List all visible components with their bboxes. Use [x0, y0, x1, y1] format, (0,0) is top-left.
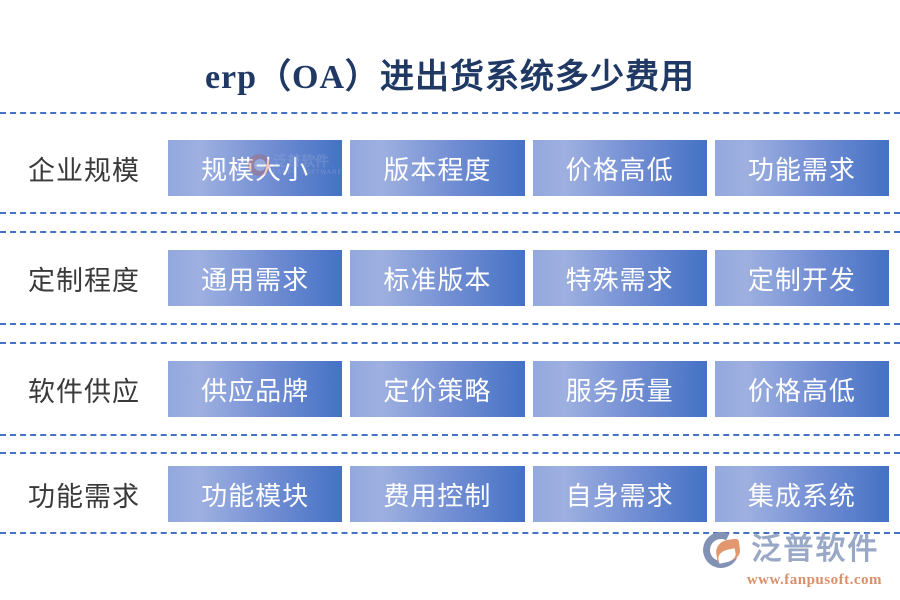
cell-2-1[interactable]: 通用需求	[168, 250, 342, 306]
page-title: erp（OA）进出货系统多少费用	[205, 49, 695, 98]
row-label-3: 软件供应	[0, 370, 168, 409]
cell-3-3[interactable]: 服务质量	[533, 361, 707, 417]
divider-1-lower	[0, 231, 900, 233]
row-label-1: 企业规模	[0, 149, 168, 188]
brand-top-row: 泛普软件	[703, 530, 879, 570]
divider-1-upper	[0, 212, 900, 214]
cell-2-2[interactable]: 标准版本	[350, 250, 524, 306]
divider-3-upper	[0, 434, 900, 436]
cell-4-4[interactable]: 集成系统	[715, 466, 889, 522]
cell-1-1[interactable]: 规模大小	[168, 140, 342, 196]
divider-2-upper	[0, 323, 900, 325]
cell-4-1[interactable]: 功能模块	[168, 466, 342, 522]
row-enterprise-scale: 企业规模 规模大小 版本程度 价格高低 功能需求	[0, 140, 900, 196]
cell-3-2[interactable]: 定价策略	[350, 361, 524, 417]
cell-2-3[interactable]: 特殊需求	[533, 250, 707, 306]
row-4-cells: 功能模块 费用控制 自身需求 集成系统	[168, 466, 900, 522]
cell-1-3[interactable]: 价格高低	[533, 140, 707, 196]
brand-logo: 泛普软件 www.fanpusoft.com	[701, 530, 882, 588]
row-customization-level: 定制程度 通用需求 标准版本 特殊需求 定制开发	[0, 250, 900, 306]
row-label-2: 定制程度	[0, 259, 168, 298]
divider-2-lower	[0, 342, 900, 344]
row-3-cells: 供应品牌 定价策略 服务质量 价格高低	[168, 361, 900, 417]
divider-top	[0, 112, 900, 114]
row-function-requirements: 功能需求 功能模块 费用控制 自身需求 集成系统	[0, 466, 900, 522]
brand-url: www.fanpusoft.com	[747, 573, 882, 588]
infographic-page: erp（OA）进出货系统多少费用 企业规模 规模大小 版本程度 价格高低 功能需…	[0, 0, 900, 600]
row-label-4: 功能需求	[0, 475, 168, 514]
cell-1-4[interactable]: 功能需求	[715, 140, 889, 196]
divider-3-lower	[0, 452, 900, 454]
cell-1-2[interactable]: 版本程度	[350, 140, 524, 196]
cell-4-2[interactable]: 费用控制	[350, 466, 524, 522]
row-1-cells: 规模大小 版本程度 价格高低 功能需求	[168, 140, 900, 196]
cell-2-4[interactable]: 定制开发	[715, 250, 889, 306]
cell-3-1[interactable]: 供应品牌	[168, 361, 342, 417]
cell-4-3[interactable]: 自身需求	[533, 466, 707, 522]
fanpu-logo-icon	[703, 530, 745, 570]
page-title-area: erp（OA）进出货系统多少费用	[0, 44, 900, 102]
row-2-cells: 通用需求 标准版本 特殊需求 定制开发	[168, 250, 900, 306]
cell-3-4[interactable]: 价格高低	[715, 361, 889, 417]
brand-name: 泛普软件	[751, 535, 879, 565]
row-software-supply: 软件供应 供应品牌 定价策略 服务质量 价格高低	[0, 361, 900, 417]
